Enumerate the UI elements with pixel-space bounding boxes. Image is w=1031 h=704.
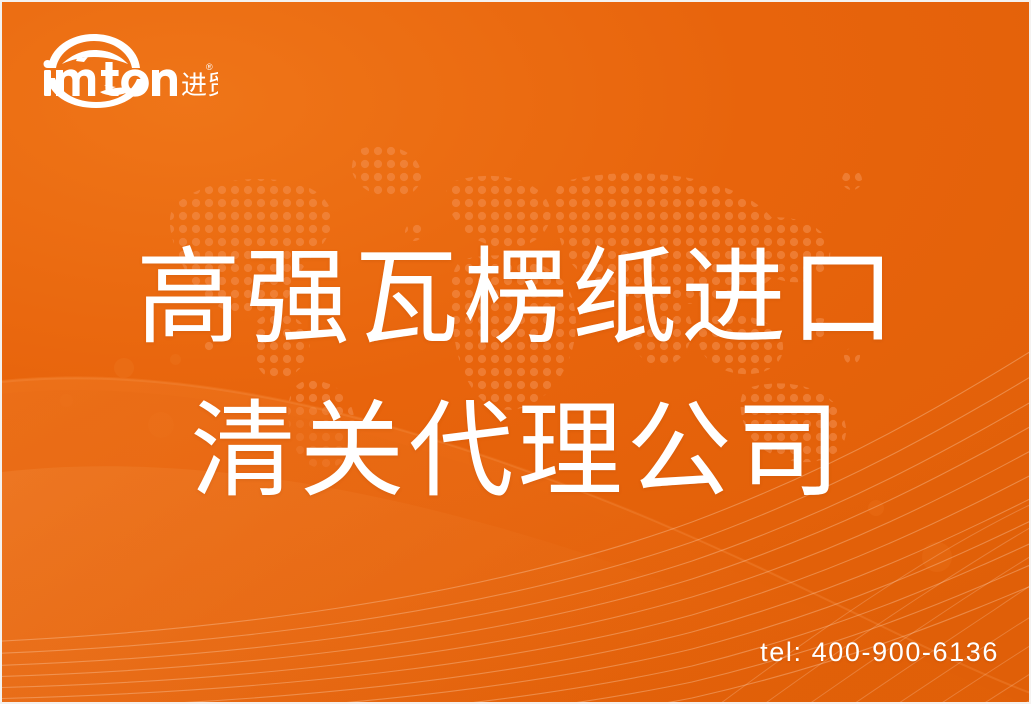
imton-logo[interactable]: 进贸通 ® <box>38 30 218 108</box>
logo-chinese-name: 进贸通 <box>181 71 218 101</box>
telephone-number[interactable]: tel: 400-900-6136 <box>760 637 999 668</box>
headline: 高强瓦楞纸进口 清关代理公司 <box>2 230 1031 521</box>
headline-line-1: 高强瓦楞纸进口 <box>2 230 1031 369</box>
registered-trademark-symbol: ® <box>206 62 213 72</box>
logo-wordmark <box>44 60 178 97</box>
promo-banner: 进贸通 ® 高强瓦楞纸进口 清关代理公司 tel: 400-900-6136 <box>0 0 1031 704</box>
headline-line-2: 清关代理公司 <box>2 383 1031 522</box>
